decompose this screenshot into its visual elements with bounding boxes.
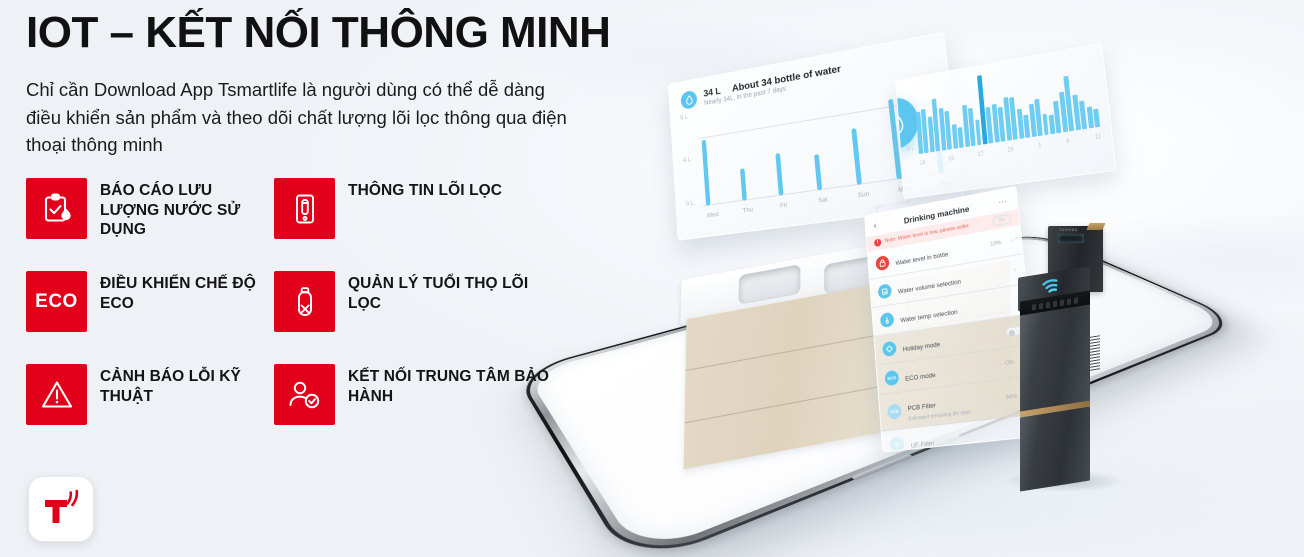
feature-item-error-warning[interactable]: CẢNH BÁO LỖI KỸ THUẬT xyxy=(26,364,266,452)
uf-filter-icon: UF xyxy=(890,436,905,452)
list-item-label: PCB Filter xyxy=(907,402,936,412)
thermometer-icon xyxy=(880,312,895,328)
x-tick: 27 xyxy=(977,151,984,158)
x-tick: Fri xyxy=(780,202,785,210)
alert-circle-icon: ! xyxy=(874,238,882,247)
tsmartlife-app-logo[interactable] xyxy=(28,476,94,542)
water-drop-icon xyxy=(680,90,697,110)
phone-filter-info-icon xyxy=(274,178,335,239)
intro-block: IOT – KẾT NỐI THÔNG MINH Chỉ cần Downloa… xyxy=(26,10,626,158)
purifier-upper-body xyxy=(1020,304,1090,415)
feature-label: THÔNG TIN LÕI LỌC xyxy=(348,178,502,201)
chevron-right-icon: › xyxy=(1014,267,1017,274)
eco-mode-icon: ECO xyxy=(884,370,899,386)
list-item-label: Holiday mode xyxy=(902,341,940,353)
list-item-label: Water volume selection xyxy=(898,278,962,295)
y-tick-4l: 4 L xyxy=(683,156,691,164)
x-tick: 19 xyxy=(948,156,955,163)
x-tick: Sun xyxy=(857,192,863,200)
water-purifier-product: TOSHIBA xyxy=(1018,226,1104,488)
purifier-vent xyxy=(1090,335,1100,371)
feature-list: BÁO CÁO LƯU LƯỢNG NƯỚC SỬ DỤNG THÔNG TIN… xyxy=(26,178,586,452)
page-title: IOT – KẾT NỐI THÔNG MINH xyxy=(26,10,626,56)
panel-button[interactable] xyxy=(1046,301,1050,308)
user-check-support-icon xyxy=(274,364,335,425)
eco-label: ECO xyxy=(35,291,78,313)
feature-label: ĐIỀU KHIỂN CHẾ ĐỘ ECO xyxy=(100,271,266,313)
tank-display xyxy=(1058,234,1084,243)
holiday-mode-icon xyxy=(882,341,897,357)
panel-button[interactable] xyxy=(1074,297,1078,304)
x-tick: 1 xyxy=(1038,143,1042,149)
product-scene: 34 L About 34 bottle of water Nearly 34L… xyxy=(548,0,1304,557)
y-tick-0l: 0 L xyxy=(686,200,694,208)
eco-text-icon: ECO xyxy=(26,271,87,332)
panel-button[interactable] xyxy=(1067,298,1071,305)
feature-label: KẾT NỐI TRUNG TÂM BẢO HÀNH xyxy=(348,364,554,406)
volume-button[interactable] xyxy=(851,454,913,481)
pcb-filter-icon: PCB xyxy=(887,403,902,419)
x-tick: 18 xyxy=(919,160,925,167)
y-tick-8l: 8 L xyxy=(680,114,688,122)
t-wifi-logo-icon xyxy=(40,489,82,529)
list-item-value: ON xyxy=(1005,359,1014,366)
y-tick-0l: 0 L xyxy=(907,146,915,153)
panel-button[interactable] xyxy=(1039,302,1043,309)
panel-button[interactable] xyxy=(1053,300,1057,307)
wifi-signal-icon xyxy=(1040,278,1066,301)
feature-item-service-center[interactable]: KẾT NỐI TRUNG TÂM BẢO HÀNH xyxy=(274,364,554,452)
list-item-label: Water level in bottle xyxy=(895,251,948,267)
filter-wrench-icon xyxy=(274,271,335,332)
drinking-machine-app-panel: ‹ Drinking machine ⋯ ! Note: Water level… xyxy=(864,186,1043,453)
x-tick: Thu xyxy=(743,207,748,214)
chevron-right-icon: › xyxy=(1011,237,1014,244)
water-volume-icon xyxy=(878,283,893,299)
x-tick: 26 xyxy=(1007,147,1014,154)
bottle-lock-icon xyxy=(875,255,889,271)
feature-label: QUẢN LÝ TUỔI THỌ LÕI LỌC xyxy=(348,271,554,313)
x-tick: 6 xyxy=(1066,139,1070,146)
list-item-label: Water temp selection xyxy=(900,308,958,323)
clipboard-check-water-icon xyxy=(26,178,87,239)
go-button[interactable]: Go xyxy=(992,214,1011,227)
panel-button[interactable] xyxy=(1032,304,1036,311)
warning-triangle-icon xyxy=(26,364,87,425)
feature-item-filter-life[interactable]: QUẢN LÝ TUỔI THỌ LÕI LỌC xyxy=(274,271,554,359)
feature-label: BÁO CÁO LƯU LƯỢNG NƯỚC SỬ DỤNG xyxy=(100,178,266,240)
feature-label: CẢNH BÁO LỖI KỸ THUẬT xyxy=(100,364,266,406)
more-dots-icon[interactable]: ⋯ xyxy=(998,196,1009,208)
list-item-value: 10% xyxy=(990,240,1002,248)
x-tick: Sat xyxy=(818,197,823,205)
list-item-value: 94% xyxy=(1005,394,1017,402)
list-item-label: ECO mode xyxy=(905,371,936,382)
feature-item-filter-info[interactable]: THÔNG TIN LÕI LỌC xyxy=(274,178,554,266)
feature-item-water-usage-report[interactable]: BÁO CÁO LƯU LƯỢNG NƯỚC SỬ DỤNG xyxy=(26,178,266,266)
purifier-lower-body xyxy=(1020,406,1090,491)
monthly-bar-chart: 0 L 18 19 27 xyxy=(914,56,1102,167)
intro-paragraph: Chỉ cần Download App Tsmartlife là người… xyxy=(26,76,571,158)
feature-item-eco-mode[interactable]: ECO ĐIỀU KHIỂN CHẾ ĐỘ ECO xyxy=(26,271,266,359)
x-tick: 11 xyxy=(1095,134,1102,141)
brand-mark: TOSHIBA xyxy=(1059,228,1078,232)
x-tick: Wed xyxy=(707,212,712,219)
